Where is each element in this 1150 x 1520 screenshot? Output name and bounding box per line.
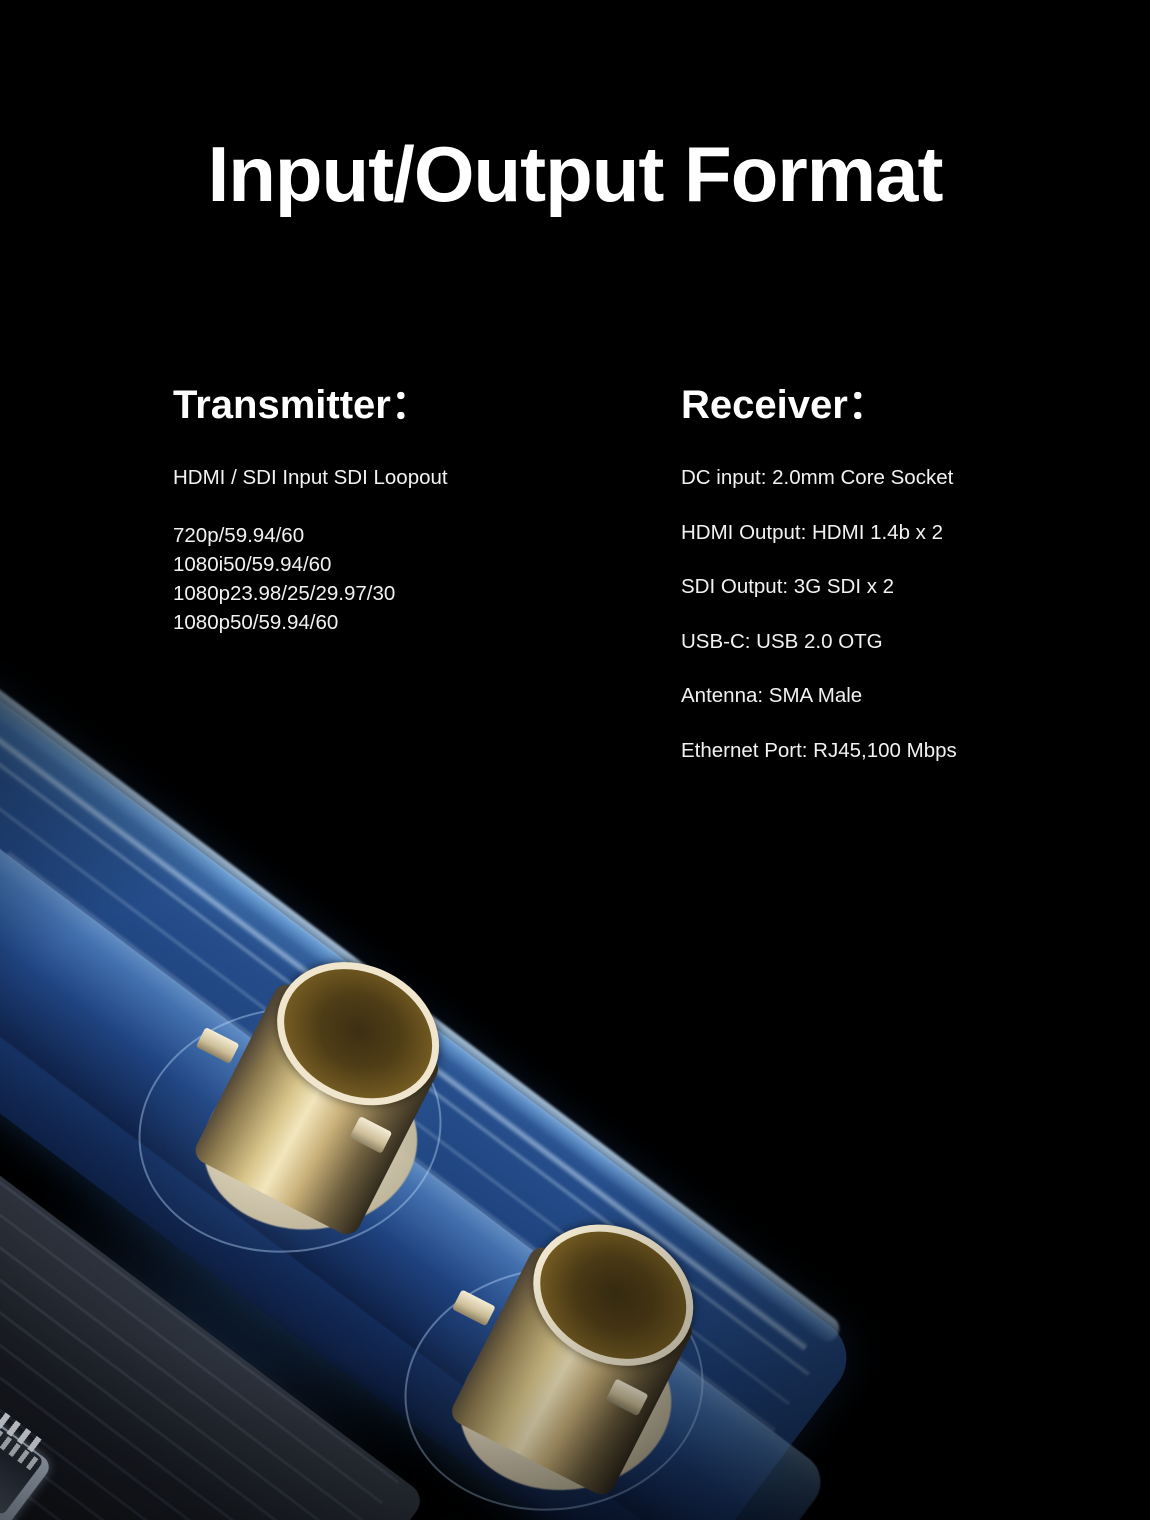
hdmi-port-shell [0,1266,54,1520]
receiver-spec-line: SDI Output: 3G SDI x 2 [681,577,1121,598]
bnc-bayonet-lug [349,1116,392,1154]
glass-streak [0,716,811,1377]
receiver-spec-list: DC input: 2.0mm Core Socket HDMI Output:… [681,468,1121,761]
transmitter-input-summary: HDMI / SDI Input SDI Loopout [173,468,643,489]
receiver-spec-line: HDMI Output: HDMI 1.4b x 2 [681,523,1121,544]
format-line: 1080p23.98/25/29.97/30 [173,579,643,608]
device-body-secondary [0,766,832,1520]
receiver-spec-line: DC input: 2.0mm Core Socket [681,468,1121,489]
glass-streak [6,850,777,1433]
transmitter-format-list: 720p/59.94/60 1080i50/59.94/60 1080p23.9… [173,521,643,637]
receiver-heading: Receiver： [681,382,1121,428]
hdmi-port-teeth [0,1256,46,1455]
receiver-spec-line: Antenna: SMA Male [681,686,1121,707]
format-line: 1080i50/59.94/60 [173,550,643,579]
blue-glow-upper [0,1160,460,1520]
hdmi-port-pins [0,1284,39,1471]
bnc-barrel [447,1243,696,1499]
glass-streak [0,670,808,1352]
format-line: 720p/59.94/60 [173,521,643,550]
transmitter-column: Transmitter： HDMI / SDI Input SDI Loopou… [173,382,643,637]
bnc-mouth [252,935,463,1132]
connector-halo [123,988,458,1272]
sdi-bnc-connector-secondary [435,1205,765,1520]
device-chassis-fins [0,1060,399,1520]
device-body [0,640,862,1520]
page-title: Input/Output Format [0,135,1150,213]
bnc-bayonet-lug [196,1027,240,1064]
bnc-barrel [191,980,443,1239]
receiver-spec-line: Ethernet Port: RJ45,100 Mbps [681,741,1121,762]
bnc-bayonet-lug [606,1378,649,1416]
bnc-bayonet-lug [452,1289,496,1326]
hdmi-port-cavity [0,1276,44,1516]
device-chassis [0,1040,427,1520]
bnc-flange [195,1049,426,1240]
glass-streak [0,788,791,1406]
transmitter-heading: Transmitter： [173,382,643,428]
bnc-flange [451,1311,679,1500]
bnc-mouth [509,1198,718,1393]
format-line: 1080p50/59.94/60 [173,608,643,637]
receiver-column: Receiver： DC input: 2.0mm Core Socket HD… [681,382,1121,761]
receiver-spec-line: USB-C: USB 2.0 OTG [681,632,1121,653]
connector-halo [389,1248,720,1520]
sdi-bnc-connector-primary [175,945,505,1275]
